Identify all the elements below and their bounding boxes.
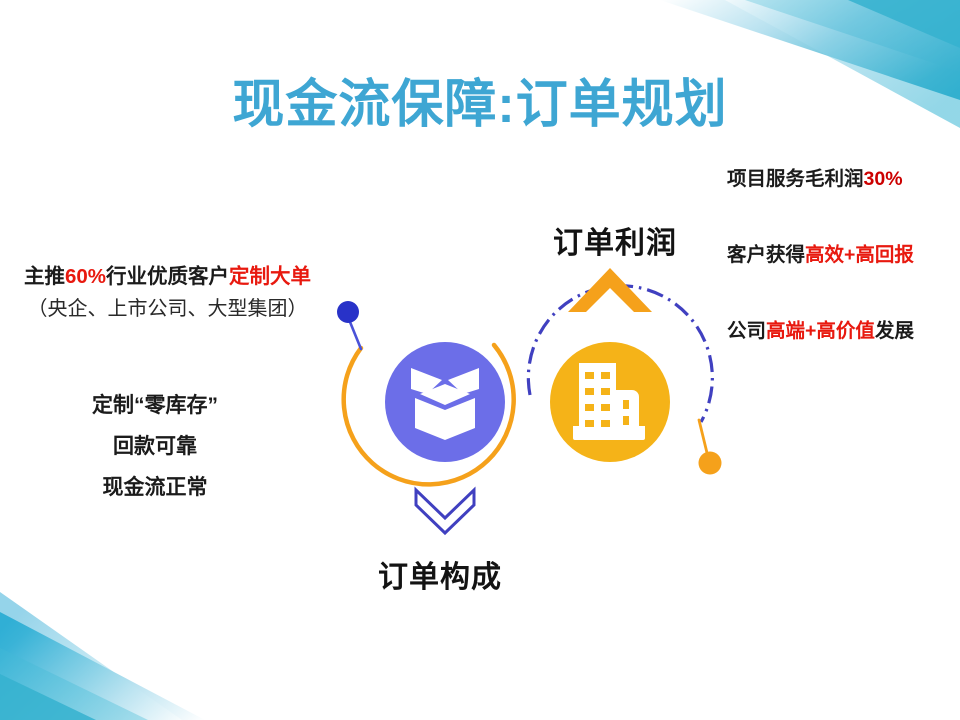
- right-line-0-part-0: 项目服务毛利润: [727, 168, 864, 190]
- corner-ribbon-bottom-left-icon: [0, 570, 330, 720]
- orange-dot-marker: [699, 452, 722, 475]
- left-headline-part-2: 行业优质客户: [106, 265, 229, 288]
- right-line-1: 客户获得高效+高回报: [727, 238, 957, 267]
- right-text-block: 项目服务毛利润30% 客户获得高效+高回报 公司高端+高价值发展: [727, 162, 957, 343]
- page-title: 现金流保障:订单规划: [0, 62, 960, 137]
- right-line-0: 项目服务毛利润30%: [727, 162, 957, 191]
- right-line-2-part-4: 发展: [875, 320, 914, 342]
- order-flow-diagram: [330, 200, 730, 600]
- left-text-block: 主推60%行业优质客户定制大单 （央企、上市公司、大型集团）: [0, 262, 335, 326]
- right-line-2: 公司高端+高价值发展: [727, 314, 957, 343]
- orange-connector-line: [699, 420, 708, 457]
- down-chevron-arrow: [416, 490, 474, 533]
- right-line-1-part-3: 高回报: [855, 244, 914, 266]
- up-chevron-arrow: [568, 268, 652, 312]
- right-line-1-part-0: 客户获得: [727, 244, 805, 266]
- right-line-2-part-0: 公司: [727, 320, 766, 342]
- blue-dot-marker: [337, 301, 359, 323]
- right-line-1-part-2: +: [844, 244, 855, 266]
- right-line-0-part-1: 30%: [864, 168, 903, 190]
- slide-canvas: 现金流保障:订单规划 主推60%行业优质客户定制大单 （央企、上市公司、大型集团…: [0, 0, 960, 720]
- left-headline-part-3: 定制大单: [229, 265, 311, 288]
- left-points-block: 定制“零库存” 回款可靠 现金流正常: [0, 385, 310, 508]
- right-line-1-part-1: 高效: [805, 244, 844, 266]
- right-line-2-part-1: 高端: [766, 320, 805, 342]
- right-line-2-part-2: +: [805, 320, 816, 342]
- left-headline: 主推60%行业优质客户定制大单: [0, 262, 335, 292]
- left-point-0: 定制“零库存”: [0, 385, 310, 426]
- left-point-2: 现金流正常: [0, 467, 310, 508]
- right-line-2-part-3: 高价值: [816, 320, 875, 342]
- left-headline-part-0: 主推: [24, 265, 65, 288]
- left-subline: （央企、上市公司、大型集团）: [0, 292, 335, 326]
- left-point-1: 回款可靠: [0, 426, 310, 467]
- left-headline-part-1: 60%: [65, 265, 106, 288]
